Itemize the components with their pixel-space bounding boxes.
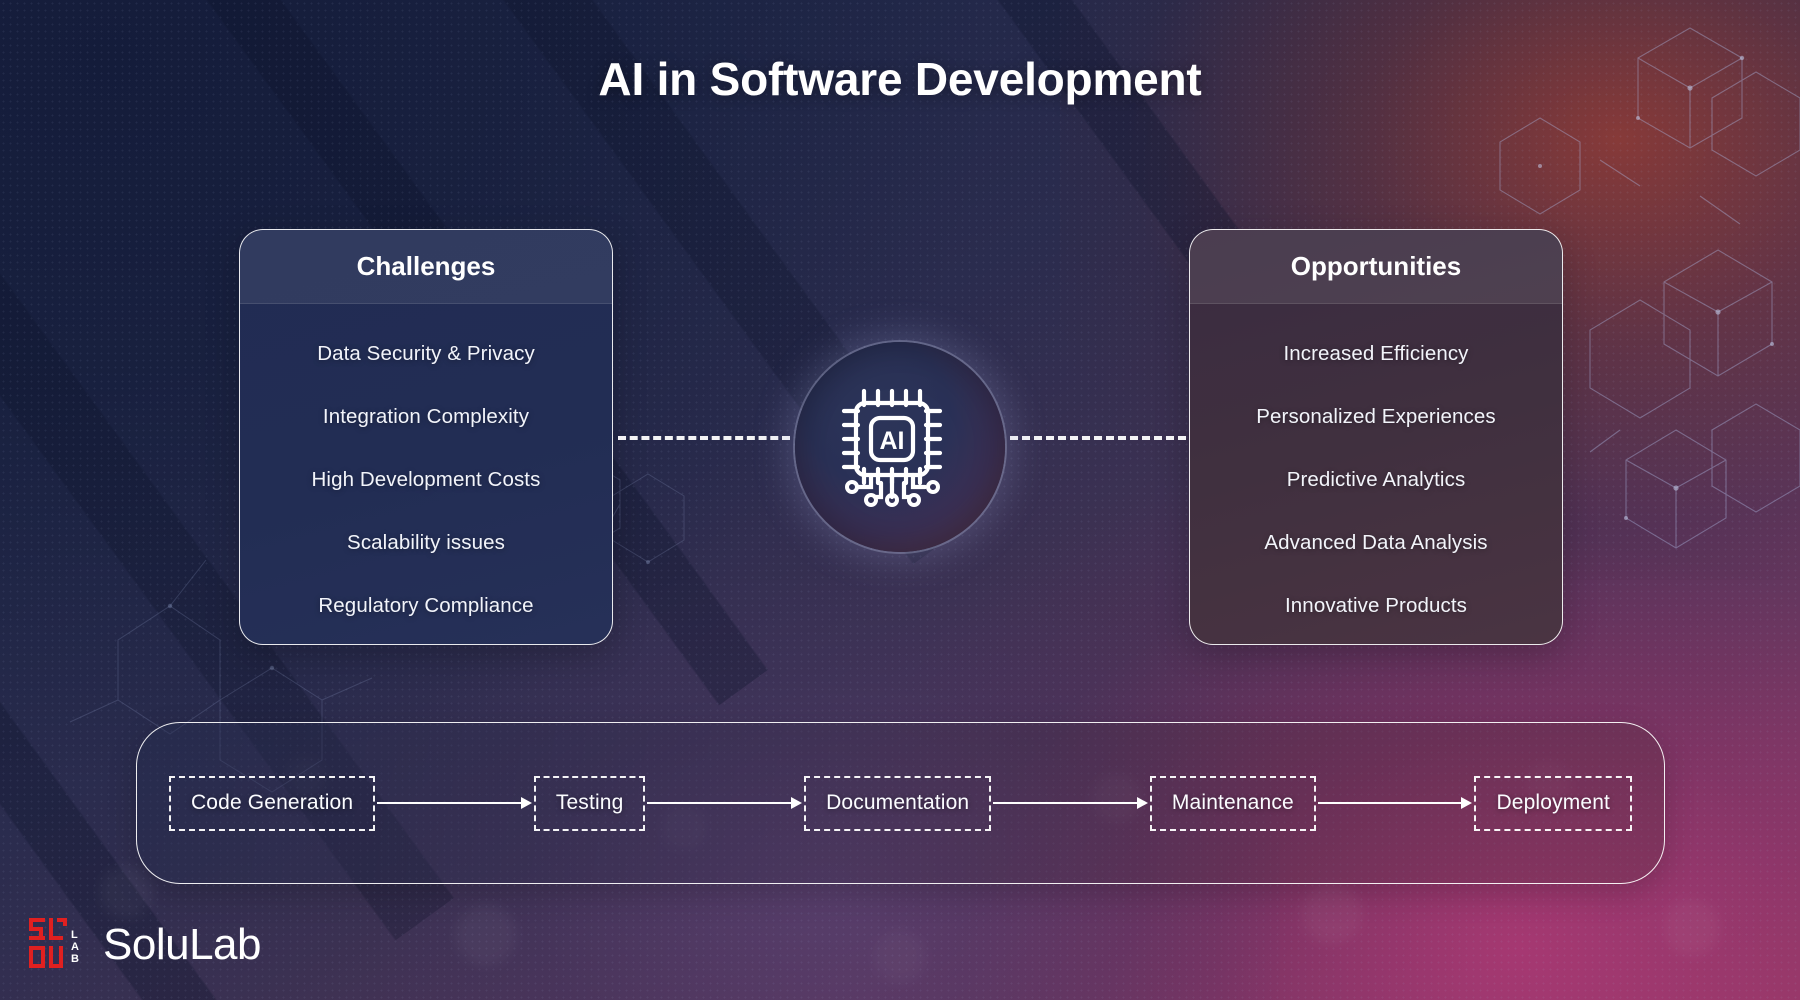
pipeline-stage-code-generation[interactable]: Code Generation: [169, 776, 375, 831]
challenges-heading: Challenges: [240, 230, 612, 304]
list-item: Advanced Data Analysis: [1204, 511, 1548, 574]
page-title: AI in Software Development: [0, 52, 1800, 106]
list-item: Data Security & Privacy: [254, 322, 598, 385]
pipeline-arrow: [1318, 802, 1473, 804]
logo-mark-letter-b: B: [71, 953, 79, 965]
pipeline-stage-label: Maintenance: [1168, 791, 1298, 815]
pipeline-stage-documentation[interactable]: Documentation: [804, 776, 991, 831]
list-item: High Development Costs: [254, 448, 598, 511]
pipeline-stage-label: Documentation: [822, 791, 973, 815]
ai-hub: AI: [795, 342, 1005, 552]
ai-chip-label: AI: [880, 427, 905, 455]
list-item: Predictive Analytics: [1204, 448, 1548, 511]
connector-line-right: [1010, 436, 1186, 440]
pipeline-stage-label: Deployment: [1492, 791, 1614, 815]
opportunities-panel: Opportunities Increased Efficiency Perso…: [1189, 229, 1563, 645]
pipeline-arrow: [647, 802, 802, 804]
challenges-panel: Challenges Data Security & Privacy Integ…: [239, 229, 613, 645]
solulab-logo-mark: L A B: [27, 916, 87, 974]
pipeline-stage-deployment[interactable]: Deployment: [1474, 776, 1632, 831]
opportunities-list: Increased Efficiency Personalized Experi…: [1190, 304, 1562, 637]
pipeline-row: Code Generation Testing Documentation Ma…: [137, 723, 1664, 883]
list-item: Integration Complexity: [254, 385, 598, 448]
challenges-list: Data Security & Privacy Integration Comp…: [240, 304, 612, 637]
list-item: Personalized Experiences: [1204, 385, 1548, 448]
pipeline-stage-maintenance[interactable]: Maintenance: [1150, 776, 1316, 831]
pipeline-container: Code Generation Testing Documentation Ma…: [136, 722, 1665, 884]
pipeline-stage-label: Code Generation: [187, 791, 357, 815]
list-item: Increased Efficiency: [1204, 322, 1548, 385]
pipeline-stage-label: Testing: [552, 791, 628, 815]
pipeline-arrow: [377, 802, 532, 804]
solulab-logo[interactable]: L A B SoluLab: [27, 916, 261, 974]
logo-mark-letter-l: L: [71, 929, 78, 941]
connector-line-left: [618, 436, 790, 440]
list-item: Regulatory Compliance: [254, 574, 598, 637]
opportunities-heading: Opportunities: [1190, 230, 1562, 304]
ai-chip-icon: AI: [826, 373, 974, 521]
list-item: Innovative Products: [1204, 574, 1548, 637]
list-item: Scalability issues: [254, 511, 598, 574]
pipeline-arrow: [993, 802, 1148, 804]
solulab-wordmark: SoluLab: [103, 923, 261, 967]
logo-mark-letter-a: A: [71, 941, 79, 953]
pipeline-stage-testing[interactable]: Testing: [534, 776, 646, 831]
